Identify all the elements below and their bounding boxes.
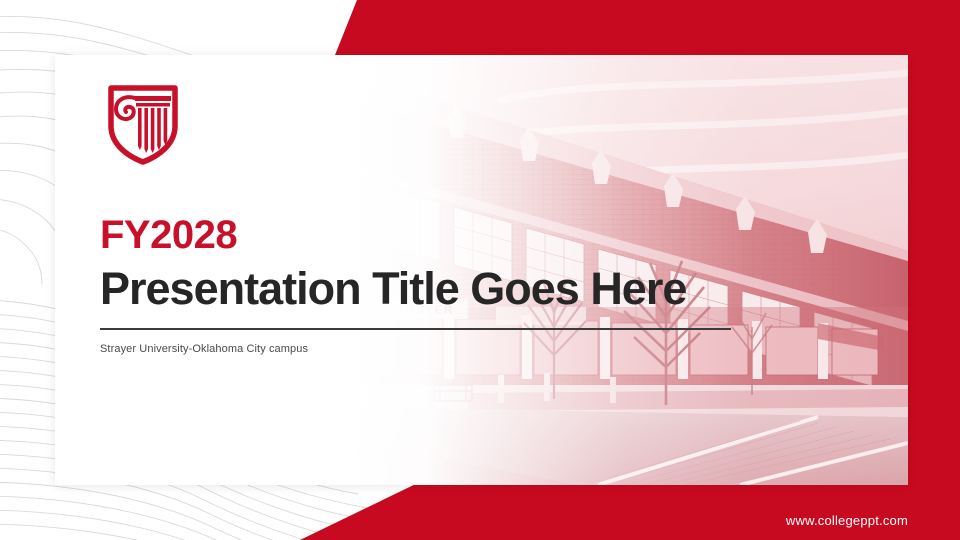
presentation-slide: STRAYER — [0, 0, 960, 540]
footer-website-url: www.collegeppt.com — [786, 513, 908, 528]
strayer-university-shield-logo — [105, 82, 181, 166]
page-title: Presentation Title Goes Here — [100, 265, 800, 312]
title-divider-rule — [100, 328, 731, 330]
fiscal-year-label: FY2028 — [100, 215, 800, 255]
title-text-block: FY2028 Presentation Title Goes Here Stra… — [100, 215, 800, 355]
campus-subtitle: Strayer University-Oklahoma City campus — [100, 343, 800, 355]
content-card: STRAYER — [55, 55, 908, 485]
